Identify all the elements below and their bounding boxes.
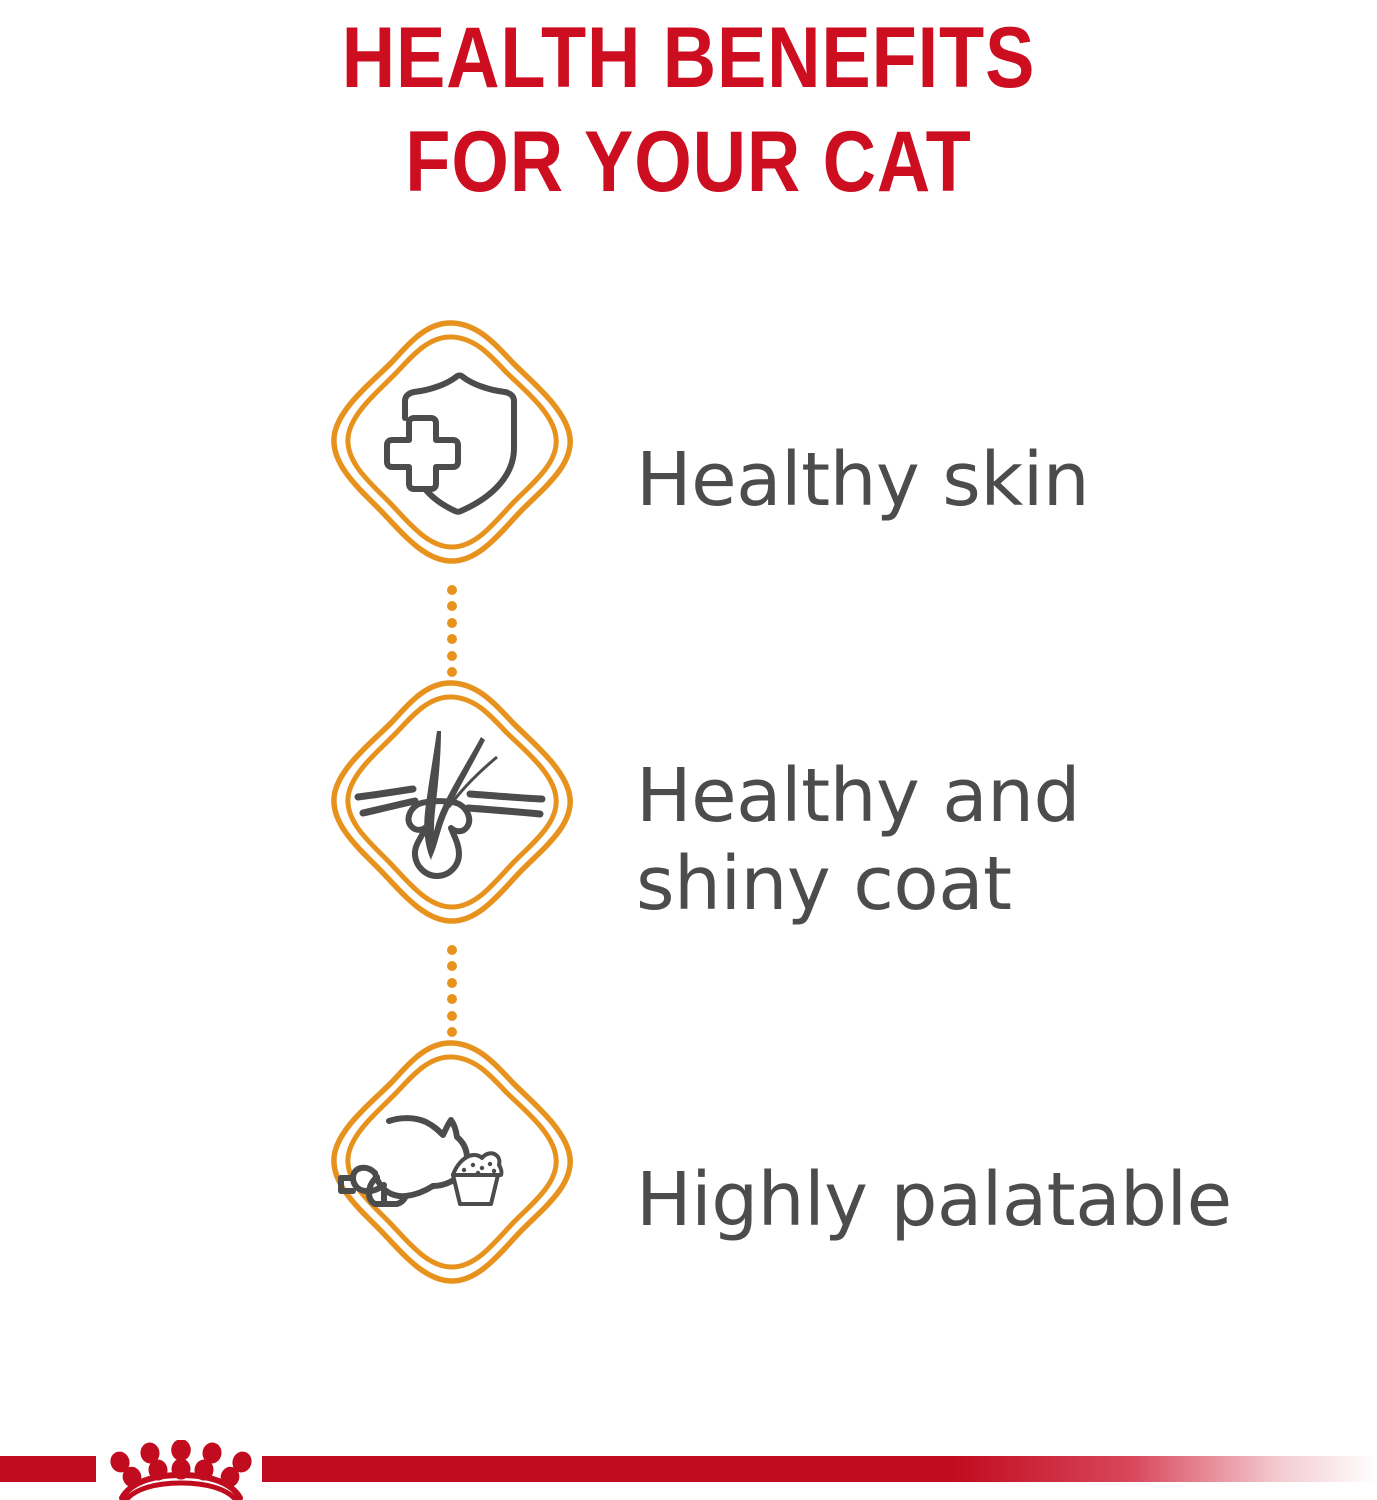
benefit-item-healthy-skin: Healthy skin [0, 300, 1377, 660]
food-bowl-icon [453, 1153, 501, 1204]
footer-rule-left [0, 1456, 96, 1482]
footer [0, 1440, 1377, 1500]
benefit-icon-frame [327, 317, 577, 567]
connector-dot [447, 634, 457, 644]
connector-dot [447, 994, 457, 1004]
connector-dot [447, 601, 457, 611]
benefit-icon-frame [327, 1037, 577, 1287]
connector-dot [447, 961, 457, 971]
diamond-outline-inner [348, 1057, 556, 1267]
benefit-label: Healthy skin [636, 436, 1089, 524]
benefit-item-highly-palatable: Highly palatable [0, 1020, 1377, 1380]
connector-dot [447, 978, 457, 988]
connector-dot [447, 585, 457, 595]
diamond-outline-outer [334, 1043, 570, 1281]
page-title-line-2: FOR YOUR CAT [96, 110, 1280, 214]
benefit-icon-frame [327, 677, 577, 927]
footer-rule-right [262, 1456, 1377, 1482]
connector-dot [447, 618, 457, 628]
page-title-line-1: HEALTH BENEFITS [96, 6, 1280, 110]
hair-follicle-icon [358, 731, 542, 876]
benefit-item-shiny-coat: Healthy and shiny coat [0, 660, 1377, 1020]
page-title: HEALTH BENEFITS FOR YOUR CAT [0, 0, 1377, 214]
plus-cross-icon [387, 418, 458, 489]
benefit-label: Healthy and shiny coat [636, 752, 1080, 928]
connector-dot [447, 945, 457, 955]
benefits-list: Healthy skin [0, 300, 1377, 1380]
royal-canin-crown-logo [96, 1440, 266, 1500]
benefit-label: Highly palatable [636, 1156, 1232, 1244]
